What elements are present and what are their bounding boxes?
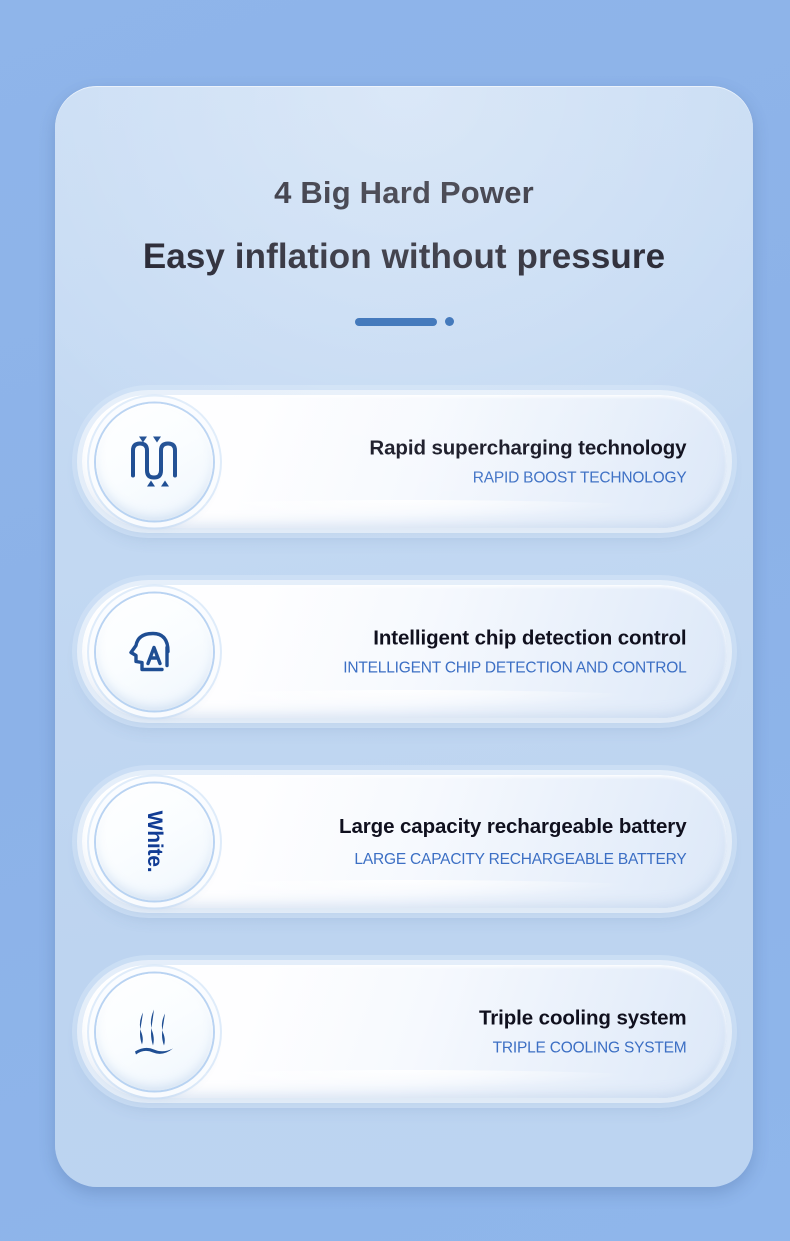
feature-card-text: Triple cooling system TRIPLE COOLING SYS… (479, 1005, 687, 1058)
feature-card-title: Rapid supercharging technology (369, 435, 686, 460)
cooling-steam-icon (96, 973, 213, 1090)
feature-card-list: Rapid supercharging technology RAPID BOO… (55, 395, 753, 1155)
feature-card-subtitle: RAPID BOOST TECHNOLOGY (369, 469, 686, 488)
feature-card[interactable]: Triple cooling system TRIPLE COOLING SYS… (82, 965, 727, 1098)
white-word-icon: White. (96, 783, 213, 900)
feature-card-title: Triple cooling system (479, 1005, 687, 1030)
feature-card-subtitle: LARGE CAPACITY RECHARGEABLE BATTERY (339, 851, 686, 870)
feature-card-subtitle: INTELLIGENT CHIP DETECTION AND CONTROL (343, 659, 686, 678)
cooling-steam-glyph (125, 1003, 183, 1061)
divider (55, 317, 753, 327)
feature-panel: 4 Big Hard Power Easy inflation without … (55, 86, 753, 1187)
feature-card-subtitle: TRIPLE COOLING SYSTEM (479, 1039, 687, 1058)
white-word-icon-label: White. (142, 811, 166, 873)
feature-card-text: Rapid supercharging technology RAPID BOO… (369, 435, 686, 488)
ai-head-glyph (124, 622, 184, 682)
page-subtitle: Easy inflation without pressure (55, 238, 753, 277)
feature-card[interactable]: Rapid supercharging technology RAPID BOO… (82, 395, 727, 528)
feature-card-title: Large capacity rechargeable battery (339, 814, 686, 839)
feature-card-text: Large capacity rechargeable battery LARG… (339, 814, 686, 870)
ai-head-icon (96, 593, 213, 710)
feature-card-title: Intelligent chip detection control (343, 625, 686, 650)
heading-block: 4 Big Hard Power Easy inflation without … (55, 86, 753, 327)
heating-coil-glyph (123, 431, 185, 493)
divider-bar-icon (355, 318, 437, 326)
feature-card[interactable]: Intelligent chip detection control INTEL… (82, 585, 727, 718)
feature-card-text: Intelligent chip detection control INTEL… (343, 625, 686, 678)
feature-card[interactable]: White. Large capacity rechargeable batte… (82, 775, 727, 908)
heating-coil-icon (96, 403, 213, 520)
page-title: 4 Big Hard Power (55, 176, 753, 210)
divider-dot-icon (445, 317, 454, 326)
